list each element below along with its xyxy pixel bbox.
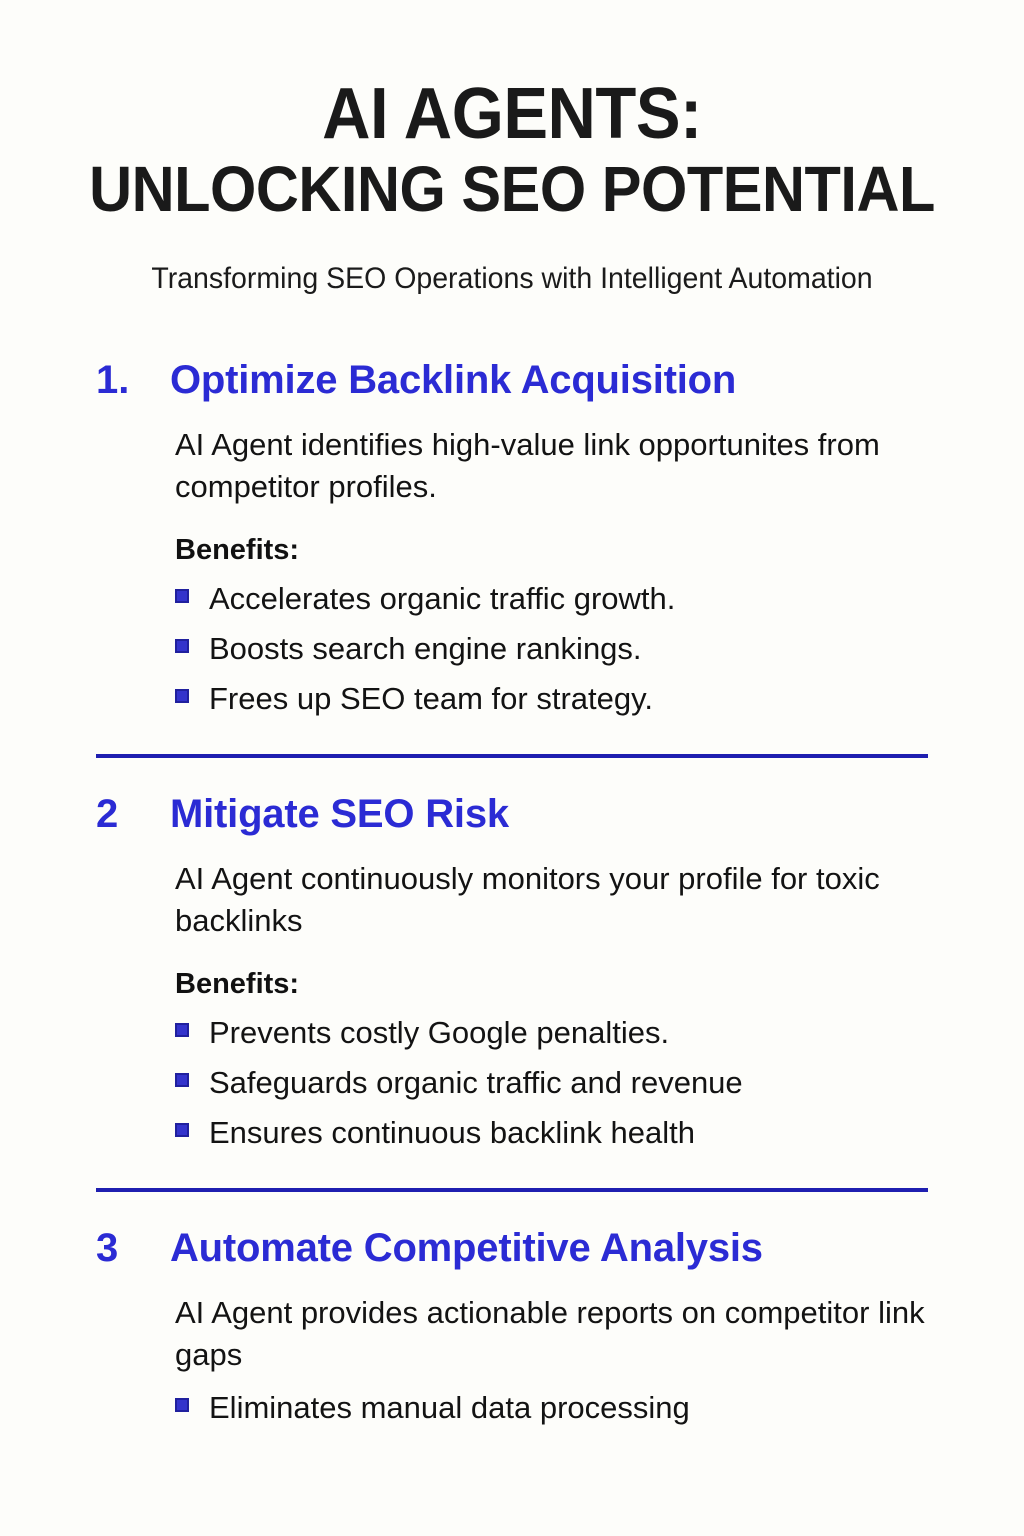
benefits-list: Eliminates manual data processing bbox=[96, 1388, 928, 1429]
list-item-label: Eliminates manual data processing bbox=[209, 1388, 690, 1429]
section-number: 3 bbox=[96, 1226, 170, 1270]
benefits-list: Prevents costly Google penalties. Safegu… bbox=[96, 1013, 928, 1154]
list-item-label: Prevents costly Google penalties. bbox=[209, 1013, 669, 1054]
square-bullet-icon bbox=[175, 1073, 189, 1087]
list-item: Safeguards organic traffic and revenue bbox=[175, 1063, 928, 1104]
square-bullet-icon bbox=[175, 689, 189, 703]
list-item-label: Accelerates organic traffic growth. bbox=[209, 579, 675, 620]
square-bullet-icon bbox=[175, 589, 189, 603]
benefits-list: Accelerates organic traffic growth. Boos… bbox=[96, 579, 928, 720]
benefits-label: Benefits: bbox=[175, 968, 928, 1001]
list-item-label: Frees up SEO team for strategy. bbox=[209, 679, 653, 720]
square-bullet-icon bbox=[175, 1023, 189, 1037]
sections-list: 1. Optimize Backlink Acquisition AI Agen… bbox=[0, 358, 1024, 1429]
list-item-label: Safeguards organic traffic and revenue bbox=[209, 1063, 743, 1104]
header: AI AGENTS: UNLOCKING SEO POTENTIAL Trans… bbox=[0, 0, 1024, 296]
list-item: Ensures continuous backlink health bbox=[175, 1113, 928, 1154]
section-mitigate-seo-risk: 2 Mitigate SEO Risk AI Agent continuousl… bbox=[0, 792, 1024, 1154]
square-bullet-icon bbox=[175, 1398, 189, 1412]
section-divider bbox=[96, 1188, 928, 1192]
section-automate-competitive-analysis: 3 Automate Competitive Analysis AI Agent… bbox=[0, 1226, 1024, 1429]
section-number: 1. bbox=[96, 358, 170, 402]
section-heading: 1. Optimize Backlink Acquisition bbox=[96, 358, 928, 402]
square-bullet-icon bbox=[175, 1123, 189, 1137]
square-bullet-icon bbox=[175, 639, 189, 653]
infographic-page: AI AGENTS: UNLOCKING SEO POTENTIAL Trans… bbox=[0, 0, 1024, 1536]
section-title: Automate Competitive Analysis bbox=[170, 1226, 763, 1270]
page-title-line2: UNLOCKING SEO POTENTIAL bbox=[36, 154, 988, 226]
list-item: Accelerates organic traffic growth. bbox=[175, 579, 928, 620]
list-item-label: Ensures continuous backlink health bbox=[209, 1113, 695, 1154]
list-item: Prevents costly Google penalties. bbox=[175, 1013, 928, 1054]
section-title: Mitigate SEO Risk bbox=[170, 792, 509, 836]
section-optimize-backlink-acquisition: 1. Optimize Backlink Acquisition AI Agen… bbox=[0, 358, 1024, 720]
benefits-label: Benefits: bbox=[175, 534, 928, 567]
list-item: Frees up SEO team for strategy. bbox=[175, 679, 928, 720]
section-heading: 2 Mitigate SEO Risk bbox=[96, 792, 928, 836]
section-description: AI Agent continuously monitors your prof… bbox=[175, 858, 928, 942]
section-title: Optimize Backlink Acquisition bbox=[170, 358, 736, 402]
list-item: Eliminates manual data processing bbox=[175, 1388, 928, 1429]
section-heading: 3 Automate Competitive Analysis bbox=[96, 1226, 928, 1270]
section-number: 2 bbox=[96, 792, 170, 836]
section-description: AI Agent provides actionable reports on … bbox=[175, 1292, 928, 1376]
page-subtitle: Transforming SEO Operations with Intelli… bbox=[26, 262, 999, 296]
page-title-line1: AI AGENTS: bbox=[36, 78, 988, 150]
section-description: AI Agent identifies high-value link oppo… bbox=[175, 424, 928, 508]
section-divider bbox=[96, 754, 928, 758]
list-item: Boosts search engine rankings. bbox=[175, 629, 928, 670]
list-item-label: Boosts search engine rankings. bbox=[209, 629, 642, 670]
